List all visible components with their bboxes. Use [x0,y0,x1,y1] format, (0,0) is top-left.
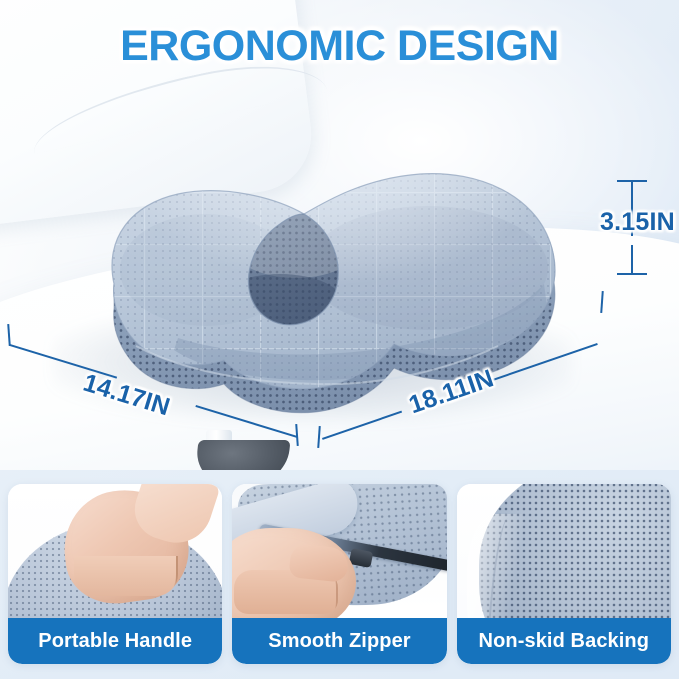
feature-caption-portable-handle: Portable Handle [8,618,222,664]
feature-panel-non-skid-backing[interactable]: Non-skid Backing [457,484,671,664]
page-title: ERGONOMIC DESIGN [0,22,679,71]
fingers-graphic [74,556,178,596]
feature-panels: Portable Handle Smooth Zipper [0,484,679,664]
chair-base [193,440,290,470]
feature-panel-smooth-zipper[interactable]: Smooth Zipper [232,484,446,664]
cushion-height-label: 3.15IN [600,208,675,237]
feature-caption-non-skid-backing: Non-skid Backing [457,618,671,664]
feature-panel-portable-handle[interactable]: Portable Handle [8,484,222,664]
product-infographic: 3.15IN 14.17IN 18.11IN ERGONOMIC DESIGN [0,0,679,679]
feature-caption-smooth-zipper: Smooth Zipper [232,618,446,664]
